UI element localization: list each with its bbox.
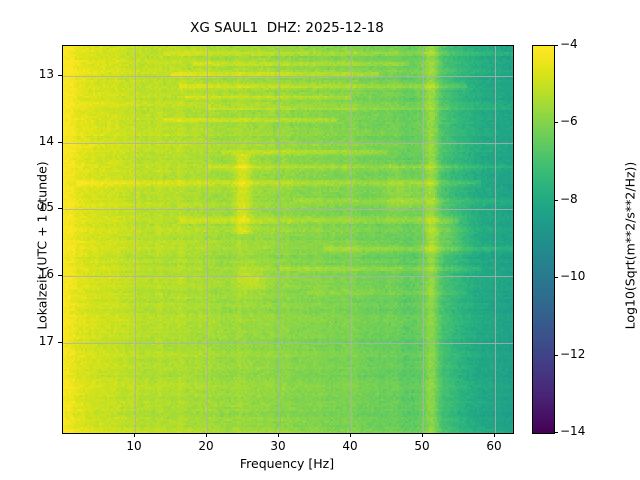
colorbar-tick-label: −10: [560, 269, 585, 283]
y-axis-label: Lokalzeit (UTC + 1 Stunde): [35, 116, 50, 376]
colorbar-tick-mark: [554, 432, 558, 433]
x-tick-label: 30: [258, 439, 298, 453]
colorbar-tick-label: −14: [560, 424, 585, 438]
x-tick-label: 20: [186, 439, 226, 453]
colorbar-tick-label: −12: [560, 347, 585, 361]
y-tick-mark: [58, 208, 62, 209]
colorbar-tick-label: −6: [560, 114, 578, 128]
y-tick-mark: [58, 275, 62, 276]
x-tick-mark: [494, 433, 495, 437]
x-tick-mark: [278, 433, 279, 437]
figure-canvas: XG SAUL1 DHZ: 2025-12-18 102030405060 13…: [0, 0, 640, 480]
y-tick-mark: [58, 75, 62, 76]
colorbar-tick-label: −4: [560, 37, 578, 51]
y-tick-mark: [58, 342, 62, 343]
page-title: XG SAUL1 DHZ: 2025-12-18: [62, 20, 512, 36]
colorbar-tick-mark: [554, 355, 558, 356]
x-tick-mark: [350, 433, 351, 437]
spectrogram-image[interactable]: [63, 46, 513, 433]
x-tick-label: 10: [114, 439, 154, 453]
y-tick-mark: [58, 142, 62, 143]
x-tick-label: 40: [330, 439, 370, 453]
x-tick-label: 50: [402, 439, 442, 453]
y-tick-label: 13: [18, 67, 54, 81]
spectrogram-axes[interactable]: [62, 45, 514, 434]
colorbar-tick-mark: [554, 45, 558, 46]
colorbar-tick-mark: [554, 200, 558, 201]
colorbar-tick-mark: [554, 122, 558, 123]
colorbar-tick-label: −8: [560, 192, 578, 206]
colorbar-tick-mark: [554, 277, 558, 278]
x-tick-label: 60: [474, 439, 514, 453]
x-axis-label: Frequency [Hz]: [62, 456, 512, 471]
x-tick-mark: [422, 433, 423, 437]
colorbar[interactable]: [532, 45, 555, 434]
colorbar-gradient: [533, 46, 554, 433]
x-tick-mark: [134, 433, 135, 437]
colorbar-label: Log10(Sqrt(m**2/s**2/Hz)): [623, 116, 638, 376]
x-tick-mark: [206, 433, 207, 437]
